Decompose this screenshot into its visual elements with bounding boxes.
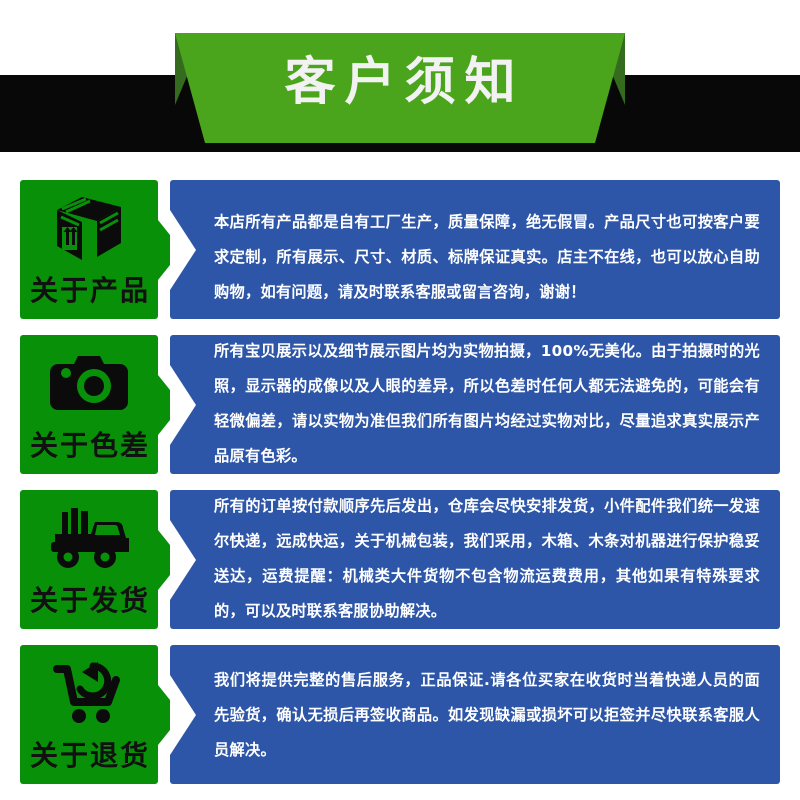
icon-card-label: 关于退货 bbox=[20, 737, 158, 775]
notice-text-wrapper: 所有的订单按付款顺序先后发出，仓库会尽快安排发货，小件配件我们统一发速尔快递，远… bbox=[214, 490, 760, 629]
header-ribbon-banner bbox=[0, 0, 800, 160]
notice-text-panel: 所有的订单按付款顺序先后发出，仓库会尽快安排发货，小件配件我们统一发速尔快递，远… bbox=[170, 490, 780, 629]
icon-card-shipping: 关于发货 bbox=[20, 490, 160, 629]
notice-text: 本店所有产品都是自有工厂生产，质量保障，绝无假冒。产品尺寸也可按客户要求定制，所… bbox=[214, 205, 760, 310]
notice-block: 关于产品 本店所有产品都是自有工厂生产，质量保障，绝无假冒。产品尺寸也可按客户要… bbox=[0, 178, 800, 321]
notice-text: 所有宝贝展示以及细节展示图片均为实物拍摄，100%无美化。由于拍摄时的光照，显示… bbox=[214, 335, 760, 474]
notice-text-panel: 本店所有产品都是自有工厂生产，质量保障，绝无假冒。产品尺寸也可按客户要求定制，所… bbox=[170, 180, 780, 319]
notice-block: 关于色差 所有宝贝展示以及细节展示图片均为实物拍摄，100%无美化。由于拍摄时的… bbox=[0, 333, 800, 476]
forklift-icon bbox=[20, 498, 158, 578]
notice-block: 关于发货 所有的订单按付款顺序先后发出，仓库会尽快安排发货，小件配件我们统一发速… bbox=[0, 488, 800, 631]
notice-text-wrapper: 本店所有产品都是自有工厂生产，质量保障，绝无假冒。产品尺寸也可按客户要求定制，所… bbox=[214, 180, 760, 319]
icon-card-color: 关于色差 bbox=[20, 335, 160, 474]
panel-notch bbox=[170, 645, 196, 784]
notice-text-panel: 我们将提供完整的售后服务，正品保证.请各位买家在收货时当着快递人员的面先验货，确… bbox=[170, 645, 780, 784]
icon-card-product: 关于产品 bbox=[20, 180, 160, 319]
camera-icon bbox=[20, 343, 158, 423]
notice-text-wrapper: 所有宝贝展示以及细节展示图片均为实物拍摄，100%无美化。由于拍摄时的光照，显示… bbox=[214, 335, 760, 474]
notice-block: 关于退货 我们将提供完整的售后服务，正品保证.请各位买家在收货时当着快递人员的面… bbox=[0, 643, 800, 786]
icon-card-label: 关于产品 bbox=[20, 272, 158, 310]
customer-notice-page: 客户须知 bbox=[0, 0, 800, 800]
package-box-icon bbox=[20, 188, 158, 268]
notice-text-wrapper: 我们将提供完整的售后服务，正品保证.请各位买家在收货时当着快递人员的面先验货，确… bbox=[214, 645, 760, 784]
panel-notch bbox=[170, 180, 196, 319]
notice-text: 我们将提供完整的售后服务，正品保证.请各位买家在收货时当着快递人员的面先验货，确… bbox=[214, 663, 760, 768]
panel-notch bbox=[170, 335, 196, 474]
icon-card-label: 关于发货 bbox=[20, 582, 158, 620]
notice-text-panel: 所有宝贝展示以及细节展示图片均为实物拍摄，100%无美化。由于拍摄时的光照，显示… bbox=[170, 335, 780, 474]
return-cart-icon bbox=[20, 653, 158, 733]
icon-card-label: 关于色差 bbox=[20, 427, 158, 465]
notice-text: 所有的订单按付款顺序先后发出，仓库会尽快安排发货，小件配件我们统一发速尔快递，远… bbox=[214, 490, 760, 629]
icon-card-return: 关于退货 bbox=[20, 645, 160, 784]
panel-notch bbox=[170, 490, 196, 629]
page-header: 客户须知 bbox=[0, 0, 800, 160]
ribbon-face bbox=[175, 33, 625, 143]
